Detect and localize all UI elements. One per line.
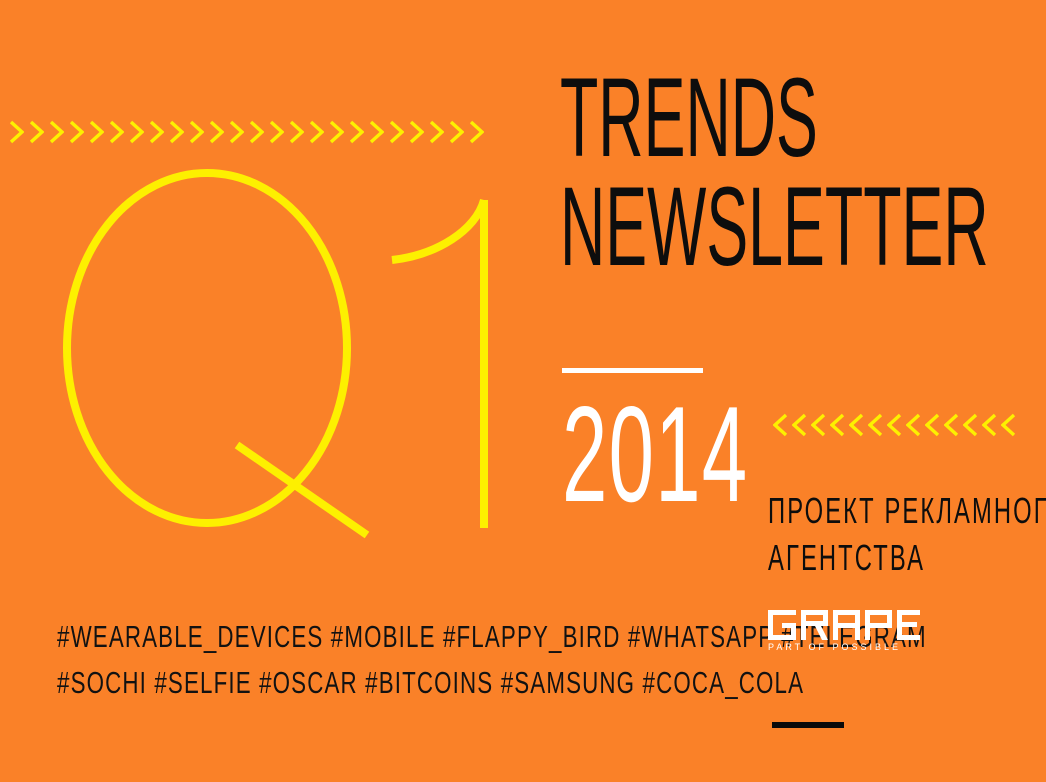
agency-caption: ПРОЕКТ РЕКЛАМНОГО АГЕНТСТВА [768, 488, 966, 582]
chevron-left-icon [963, 413, 977, 437]
year-label: 2014 [562, 386, 748, 522]
chevron-left-icon [811, 413, 825, 437]
chevron-right-icon [270, 120, 284, 144]
chevron-left-icon [792, 413, 806, 437]
agency-caption-line-1: ПРОЕКТ РЕКЛАМНОГО [768, 488, 966, 535]
agency-caption-line-2: АГЕНТСТВА [768, 535, 966, 582]
chevron-right-icon [450, 120, 464, 144]
hashtag-list: #WEARABLE_DEVICES #MOBILE #FLAPPY_BIRD #… [57, 614, 677, 706]
page-title: TRENDS NEWSLETTER [560, 66, 960, 278]
chevron-right-icon [390, 120, 404, 144]
chevron-left-icon [773, 413, 787, 437]
chevron-left-icon [830, 413, 844, 437]
chevron-left-icon [1001, 413, 1015, 437]
chevron-right-icon [150, 120, 164, 144]
q1-mark-icon [52, 160, 522, 570]
headline-line-newsletter: NEWSLETTER [560, 175, 784, 278]
chevron-right-icon [410, 120, 424, 144]
chevron-left-icon [982, 413, 996, 437]
chevron-left-icon [887, 413, 901, 437]
chevron-right-icon [330, 120, 344, 144]
chevron-right-icon [30, 120, 44, 144]
chevron-left-icon [925, 413, 939, 437]
chevron-right-icon [210, 120, 224, 144]
chevron-right-icon [10, 120, 24, 144]
chevron-right-icon [470, 120, 484, 144]
chevron-right-icon [310, 120, 324, 144]
grape-logo-tagline: PART OF POSSIBLE [768, 643, 928, 652]
chevron-right-icon [290, 120, 304, 144]
chevron-right-icon [90, 120, 104, 144]
grape-wordmark-icon [768, 610, 920, 640]
chevron-left-icon [906, 413, 920, 437]
hashtag-row-1: #WEARABLE_DEVICES #MOBILE #FLAPPY_BIRD #… [57, 614, 503, 660]
headline-line-trends: TRENDS [560, 66, 784, 169]
chevron-right-icon [430, 120, 444, 144]
year-divider-rule [562, 368, 703, 373]
q1-quarter-mark [52, 160, 522, 570]
chevron-left-icon [944, 413, 958, 437]
grape-logo[interactable]: PART OF POSSIBLE [768, 610, 928, 652]
chevron-right-icon [110, 120, 124, 144]
chevron-right-icon [370, 120, 384, 144]
chevron-left-icon [849, 413, 863, 437]
chevron-right-icon [130, 120, 144, 144]
bottom-dash-rule [772, 722, 844, 728]
chevron-left-icon [868, 413, 882, 437]
chevron-right-icon [50, 120, 64, 144]
chevron-right-icon [170, 120, 184, 144]
poster-canvas: TRENDS NEWSLETTER 2014 ПРОЕКТ РЕКЛАМНОГО… [0, 0, 1046, 782]
chevron-strip-left-pointing [773, 408, 1046, 442]
chevron-right-icon [230, 120, 244, 144]
chevron-strip-right-pointing [10, 112, 502, 152]
hashtag-row-2: #SOCHI #SELFIE #OSCAR #BITCOINS #SAMSUNG… [57, 660, 503, 706]
chevron-right-icon [70, 120, 84, 144]
chevron-right-icon [190, 120, 204, 144]
chevron-right-icon [250, 120, 264, 144]
chevron-right-icon [350, 120, 364, 144]
